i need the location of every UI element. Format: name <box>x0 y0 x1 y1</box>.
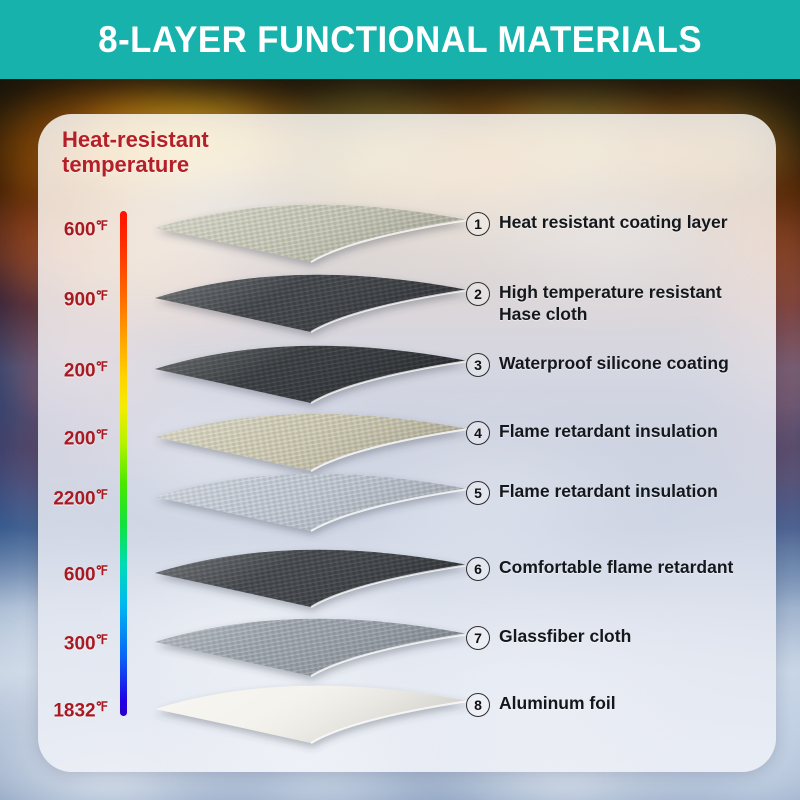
temperature-label-5: 2200℉ <box>0 487 108 510</box>
temperature-label-6: 600℉ <box>0 563 108 586</box>
temperature-value: 600 <box>64 219 96 240</box>
layer-label: Comfortable flame retardant <box>499 556 733 578</box>
temperature-label-4: 200℉ <box>0 427 108 450</box>
temperature-label-3: 200℉ <box>0 359 108 382</box>
temperature-label-2: 900℉ <box>0 288 108 311</box>
temperature-label-8: 1832℉ <box>0 699 108 722</box>
temperature-value: 900 <box>64 289 96 310</box>
temperature-unit: ℉ <box>96 632 108 647</box>
layer-callout-6: 6Comfortable flame retardant <box>466 556 733 581</box>
temperature-unit: ℉ <box>96 563 108 578</box>
layer-number-badge: 7 <box>466 626 490 650</box>
temperature-unit: ℉ <box>96 359 108 374</box>
temperature-gradient-scale <box>120 211 127 716</box>
temperature-label-1: 600℉ <box>0 218 108 241</box>
temperature-unit: ℉ <box>96 427 108 442</box>
layer-callout-2: 2High temperature resistant Hase cloth <box>466 281 722 326</box>
layer-callout-1: 1Heat resistant coating layer <box>466 211 728 236</box>
layer-number-badge: 8 <box>466 693 490 717</box>
temperature-value: 600 <box>64 564 96 585</box>
layer-number-badge: 1 <box>466 212 490 236</box>
temperature-value: 1832 <box>53 700 95 721</box>
layer-callout-8: 8Aluminum foil <box>466 692 616 717</box>
layer-number-badge: 3 <box>466 353 490 377</box>
page-title: 8-LAYER FUNCTIONAL MATERIALS <box>98 19 702 61</box>
layer-label: Glassfiber cloth <box>499 625 631 647</box>
layer-label: Waterproof silicone coating <box>499 352 729 374</box>
temperature-unit: ℉ <box>96 699 108 714</box>
infographic-root: 8-LAYER FUNCTIONAL MATERIALS Heat-resist… <box>0 0 800 800</box>
layer-callout-3: 3Waterproof silicone coating <box>466 352 729 377</box>
layer-number-badge: 6 <box>466 557 490 581</box>
temperature-unit: ℉ <box>96 288 108 303</box>
temperature-unit: ℉ <box>96 218 108 233</box>
layer-label: High temperature resistant Hase cloth <box>499 281 722 326</box>
temperature-value: 200 <box>64 428 96 449</box>
layer-callout-4: 4Flame retardant insulation <box>466 420 718 445</box>
header-bar: 8-LAYER FUNCTIONAL MATERIALS <box>0 0 800 79</box>
temperature-label-7: 300℉ <box>0 632 108 655</box>
layer-callout-7: 7Glassfiber cloth <box>466 625 631 650</box>
temperature-value: 2200 <box>53 488 95 509</box>
heat-resistant-temperature-title: Heat-resistant temperature <box>62 128 292 177</box>
layer-label: Aluminum foil <box>499 692 616 714</box>
layer-number-badge: 4 <box>466 421 490 445</box>
temperature-value: 300 <box>64 633 96 654</box>
layer-number-badge: 5 <box>466 481 490 505</box>
temperature-value: 200 <box>64 360 96 381</box>
temperature-unit: ℉ <box>96 487 108 502</box>
layer-callout-5: 5Flame retardant insulation <box>466 480 718 505</box>
layer-number-badge: 2 <box>466 282 490 306</box>
layer-label: Flame retardant insulation <box>499 480 718 502</box>
layer-label: Flame retardant insulation <box>499 420 718 442</box>
layer-label: Heat resistant coating layer <box>499 211 728 233</box>
